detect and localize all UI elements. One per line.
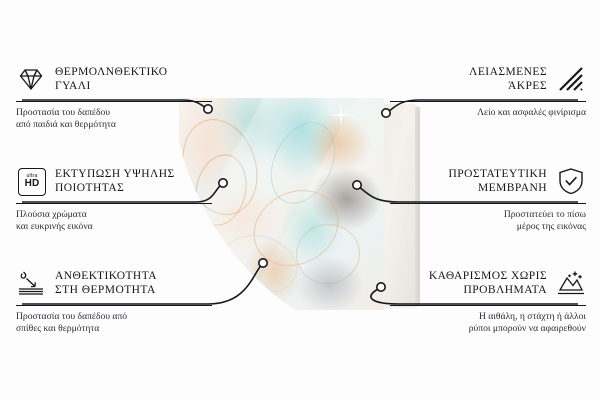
feature-header: ΛΕΙΑΣΜΕΝΕΣ ΆΚΡΕΣ (390, 62, 586, 96)
connector-dot (353, 181, 361, 189)
divider (390, 203, 586, 204)
feature-description: Λείο και ασφαλές φινίρισμα (390, 107, 586, 119)
feature-description: Προστατεύει το πίσω μέρος της εικόνας (390, 209, 586, 234)
divider (390, 305, 586, 306)
connector-dot (219, 179, 227, 187)
connector-dot (259, 259, 267, 267)
feature-polished-edges: ΛΕΙΑΣΜΕΝΕΣ ΆΚΡΕΣ Λείο και ασφαλές φινίρι… (390, 62, 586, 119)
feature-title: ΑΝΘΕΚΤΙΚΟΤΗΤΑ ΣΤΗ ΘΕΡΜΟΤΗΤΑ (55, 269, 157, 297)
polished-edges-icon (556, 64, 586, 94)
infographic-canvas: ΘΕΡΜΟΛΝΘΕΚΤΙΚΟ ΓΥΑΛΙ Προστασία του δαπέδ… (0, 0, 600, 400)
feature-header: ultra HD ΕΚΤΥΠΩΣΗ ΥΨΗΛΗΣ ΠΟΙΟΤΗΤΑΣ (16, 164, 212, 198)
divider (16, 305, 212, 306)
ultra-hd-main-label: HD (25, 179, 40, 190)
heat-resistance-icon (16, 268, 46, 298)
divider (390, 101, 586, 102)
feature-description: Η αιθάλη, η στάχτη ή άλλοι ρύποι μπορούν… (390, 311, 586, 336)
feature-description: Πλούσια χρώματα και ευκρινής εικόνα (16, 209, 212, 234)
divider (16, 101, 212, 102)
feature-header: ΚΑΘΑΡΙΣΜΟΣ ΧΩΡΙΣ ΠΡΟΒΛΗΜΑΤΑ (390, 266, 586, 300)
feature-title: ΠΡΟΣΤΑΤΕΥΤΙΚΗ ΜΕΜΒΡΑΝΗ (448, 167, 547, 195)
feature-description: Προστασία του δαπέδου από σπίθες και θερ… (16, 311, 212, 336)
feature-header: ΠΡΟΣΤΑΤΕΥΤΙΚΗ ΜΕΜΒΡΑΝΗ (390, 164, 586, 198)
feature-title: ΘΕΡΜΟΛΝΘΕΚΤΙΚΟ ΓΥΑΛΙ (55, 65, 167, 93)
feature-high-quality-print: ultra HD ΕΚΤΥΠΩΣΗ ΥΨΗΛΗΣ ΠΟΙΟΤΗΤΑΣ Πλούσ… (16, 164, 212, 234)
easy-clean-icon (556, 268, 586, 298)
feature-heat-durability: ΑΝΘΕΚΤΙΚΟΤΗΤΑ ΣΤΗ ΘΕΡΜΟΤΗΤΑ Προστασία το… (16, 266, 212, 336)
feature-header: ΘΕΡΜΟΛΝΘΕΚΤΙΚΟ ΓΥΑΛΙ (16, 62, 212, 96)
divider (16, 203, 212, 204)
feature-title: ΚΑΘΑΡΙΣΜΟΣ ΧΩΡΙΣ ΠΡΟΒΛΗΜΑΤΑ (429, 269, 547, 297)
feature-easy-cleaning: ΚΑΘΑΡΙΣΜΟΣ ΧΩΡΙΣ ΠΡΟΒΛΗΜΑΤΑ Η αιθάλη, η … (390, 266, 586, 336)
feature-description: Προστασία του δαπέδου από παιδιά και θερ… (16, 107, 212, 132)
shield-check-icon (556, 166, 586, 196)
feature-title: ΕΚΤΥΠΩΣΗ ΥΨΗΛΗΣ ΠΟΙΟΤΗΤΑΣ (55, 167, 175, 195)
diamond-icon (16, 64, 46, 94)
feature-title: ΛΕΙΑΣΜΕΝΕΣ ΆΚΡΕΣ (469, 65, 547, 93)
feature-header: ΑΝΘΕΚΤΙΚΟΤΗΤΑ ΣΤΗ ΘΕΡΜΟΤΗΤΑ (16, 266, 212, 300)
feature-protective-membrane: ΠΡΟΣΤΑΤΕΥΤΙΚΗ ΜΕΜΒΡΑΝΗ Προστατεύει το πί… (390, 164, 586, 234)
connector-dot (382, 109, 390, 117)
connector-dot (377, 283, 385, 291)
ultra-hd-icon: ultra HD (16, 166, 46, 196)
feature-heat-resistant-glass: ΘΕΡΜΟΛΝΘΕΚΤΙΚΟ ΓΥΑΛΙ Προστασία του δαπέδ… (16, 62, 212, 132)
